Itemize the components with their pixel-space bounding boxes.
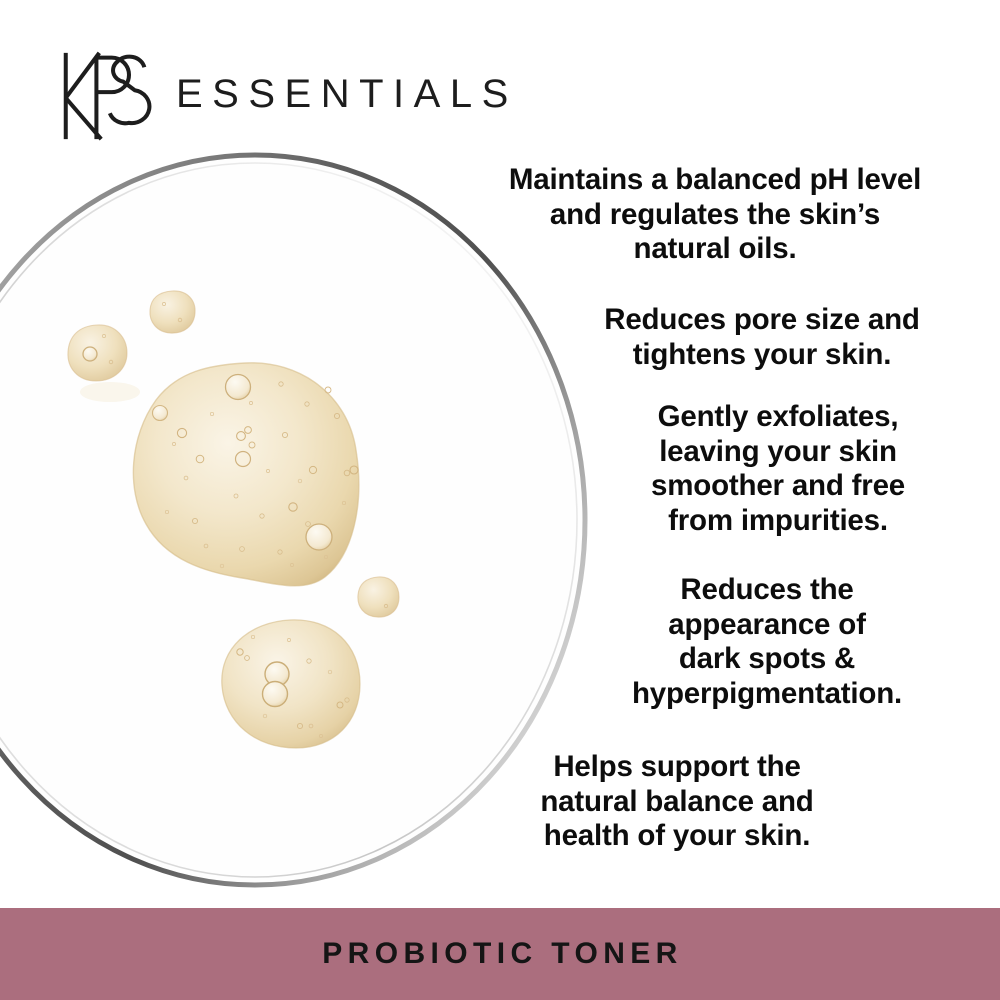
benefit-exfoliation: Gently exfoliates, leaving your skin smo… [618, 400, 938, 538]
benefit-ph-balance: Maintains a balanced pH level and regula… [483, 163, 947, 267]
large-oil-droplet [133, 363, 358, 586]
kps-monogram-icon [58, 50, 154, 142]
small-oil-droplet-top [150, 291, 195, 333]
dish-inner-rim [0, 163, 577, 877]
benefit-pore-size: Reduces pore size and tightens your skin… [578, 303, 946, 372]
product-name-banner: PROBIOTIC TONER [0, 908, 1000, 1000]
lower-oil-droplet [222, 620, 360, 748]
brand-logo: ESSENTIALS [58, 48, 518, 144]
oil-smear [80, 382, 140, 402]
benefit-dark-spots: Reduces the appearance of dark spots & h… [600, 573, 934, 711]
benefit-natural-balance: Helps support the natural balance and he… [505, 750, 849, 854]
product-infographic: ESSENTIALS Maintains a balanced pH level… [0, 0, 1000, 1000]
brand-wordmark: ESSENTIALS [176, 74, 518, 118]
small-oil-droplet-left [68, 325, 127, 381]
small-oil-droplet-right [358, 577, 399, 617]
product-name-label: PROBIOTIC TONER [317, 937, 682, 971]
